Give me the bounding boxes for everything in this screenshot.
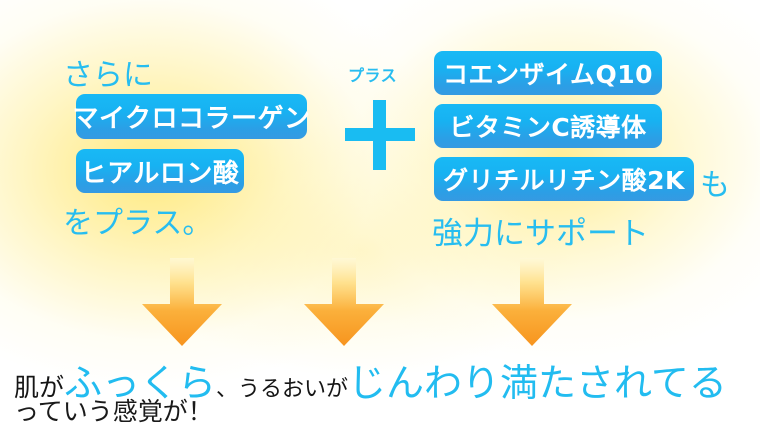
promo-poster: さらに マイクロコラーゲン ヒアルロン酸 をプラス。 プラス コエンザイムQ10… [0,0,760,430]
right-suffix-particle: も [700,160,730,204]
left-outro-text: をプラス。 [63,198,212,242]
plus-icon-vertical-bar [373,100,386,170]
ingredient-badge-micro-collagen: マイクロコラーゲン [76,94,307,139]
ingredient-badge-dipotassium-glycyrrhizate: グリチルリチン酸2K [434,157,694,201]
ingredient-badge-coenzyme-q10: コエンザイムQ10 [434,51,662,95]
bottom-copy-line-2: っていう感覚が！ [14,392,213,428]
down-arrow-left-icon [140,258,224,346]
plus-icon [345,100,415,170]
bottom-copy-uruoi: 、うるおいが [216,377,348,402]
down-arrow-right-icon [490,258,574,346]
bottom-copy-jinwari: じんわり満たされてる [348,361,727,405]
left-intro-text: さらに [63,50,153,94]
ingredient-badge-vitamin-c-derivative: ビタミンC誘導体 [434,104,662,148]
right-support-text: 強力にサポート [432,208,649,253]
plus-label: プラス [348,62,397,86]
ingredient-badge-hyaluronic-acid: ヒアルロン酸 [76,149,244,193]
down-arrow-center-icon [302,258,386,346]
